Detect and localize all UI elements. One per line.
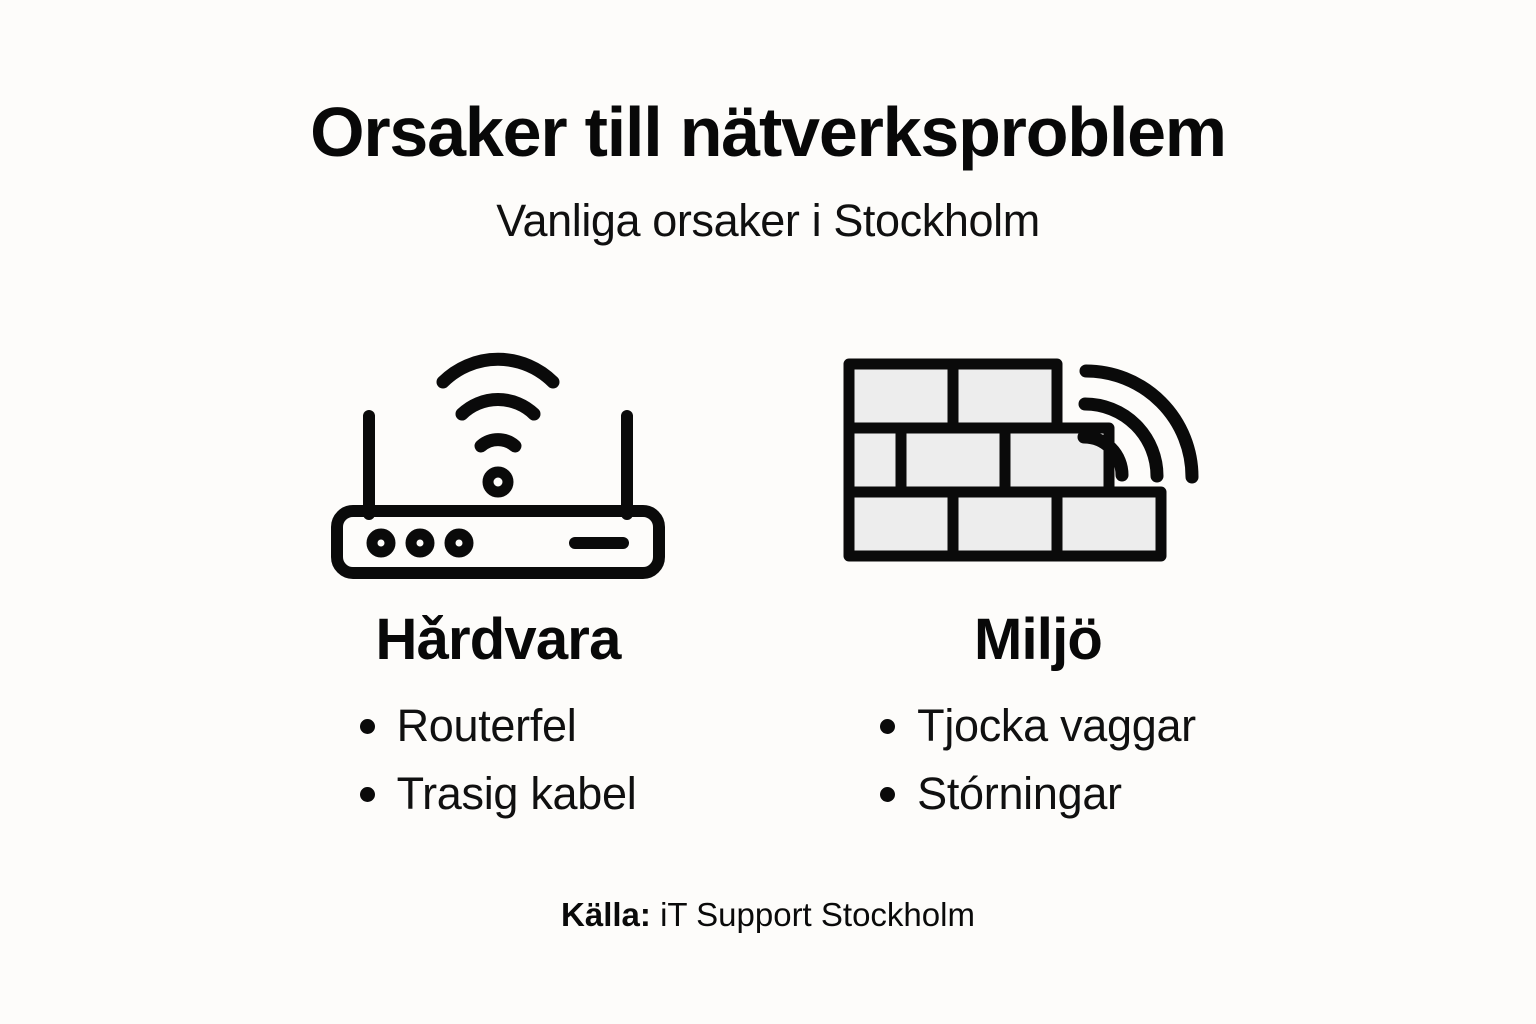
category-column-hardware: Hǎrdvara Routerfel Trasig kabel xyxy=(248,322,748,825)
category-list-hardware: Routerfel Trasig kabel xyxy=(360,695,637,825)
wifi-router-icon xyxy=(323,322,673,587)
bullet-icon xyxy=(880,719,895,734)
brick-wall-signal-icon xyxy=(843,322,1233,587)
list-item-label: Tjocka vaggar xyxy=(917,695,1196,757)
source-label: Källa: xyxy=(561,896,651,933)
list-item-label: Trasig kabel xyxy=(397,763,637,825)
bullet-icon xyxy=(360,787,375,802)
category-heading-hardware: Hǎrdvara xyxy=(375,611,620,669)
page-title: Orsaker till nätverksproblem xyxy=(0,96,1536,170)
category-column-environment: Miljö Tjocka vaggar Stórningar xyxy=(788,322,1288,825)
category-list-environment: Tjocka vaggar Stórningar xyxy=(880,695,1196,825)
bullet-icon xyxy=(360,719,375,734)
list-item: Trasig kabel xyxy=(360,763,637,825)
category-columns: Hǎrdvara Routerfel Trasig kabel xyxy=(0,322,1536,825)
infographic-canvas: Orsaker till nätverksproblem Vanliga ors… xyxy=(0,0,1536,1024)
list-item-label: Routerfel xyxy=(397,695,577,757)
source-attribution: Källa: iT Support Stockholm xyxy=(0,895,1536,935)
list-item: Stórningar xyxy=(880,763,1196,825)
header: Orsaker till nätverksproblem Vanliga ors… xyxy=(0,96,1536,245)
list-item-label: Stórningar xyxy=(917,763,1122,825)
bullet-icon xyxy=(880,787,895,802)
category-heading-environment: Miljö xyxy=(974,611,1102,669)
source-value: iT Support Stockholm xyxy=(660,896,975,933)
list-item: Tjocka vaggar xyxy=(880,695,1196,757)
page-subtitle: Vanliga orsaker i Stockholm xyxy=(0,196,1536,246)
list-item: Routerfel xyxy=(360,695,637,757)
